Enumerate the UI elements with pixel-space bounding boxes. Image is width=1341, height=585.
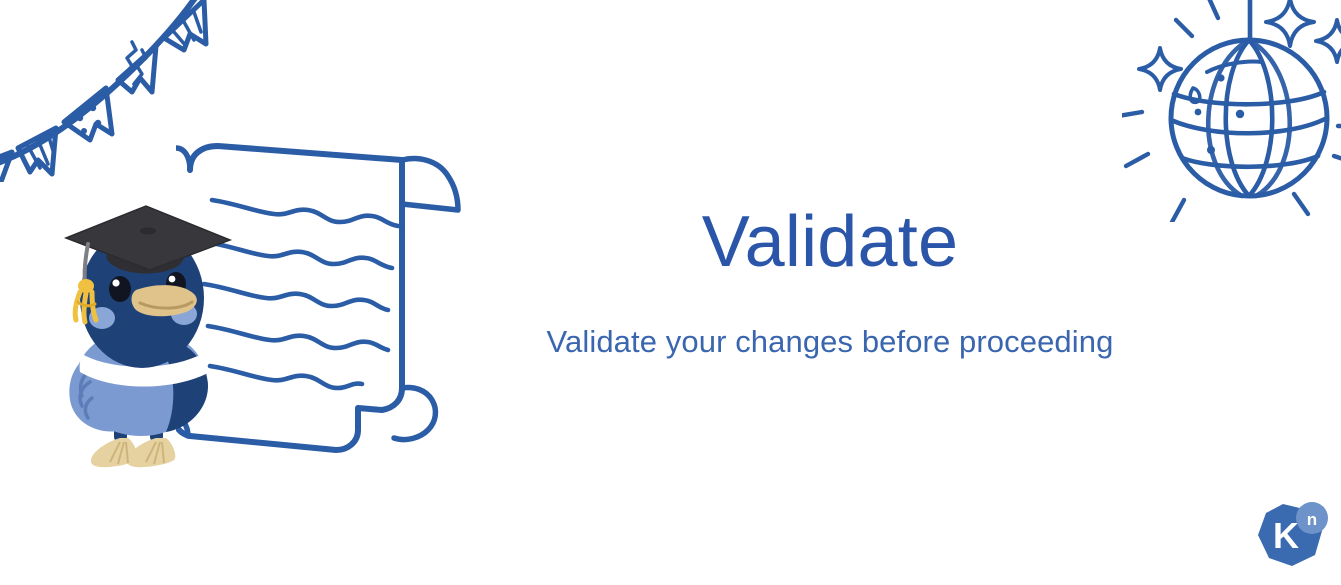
disco-ball-icon (1122, 0, 1341, 222)
graduate-bird-mascot-icon (58, 190, 244, 472)
brand-logo[interactable]: K n (1252, 500, 1330, 572)
brand-letter-n: n (1307, 510, 1317, 529)
hero-text-block: Validate Validate your changes before pr… (420, 205, 1240, 360)
brand-letter-k: K (1273, 515, 1299, 556)
party-bunting-icon (0, 0, 234, 182)
illustration-banner: Validate Validate your changes before pr… (0, 0, 1341, 585)
page-subtitle: Validate your changes before proceeding (420, 323, 1240, 360)
page-title: Validate (420, 205, 1240, 281)
